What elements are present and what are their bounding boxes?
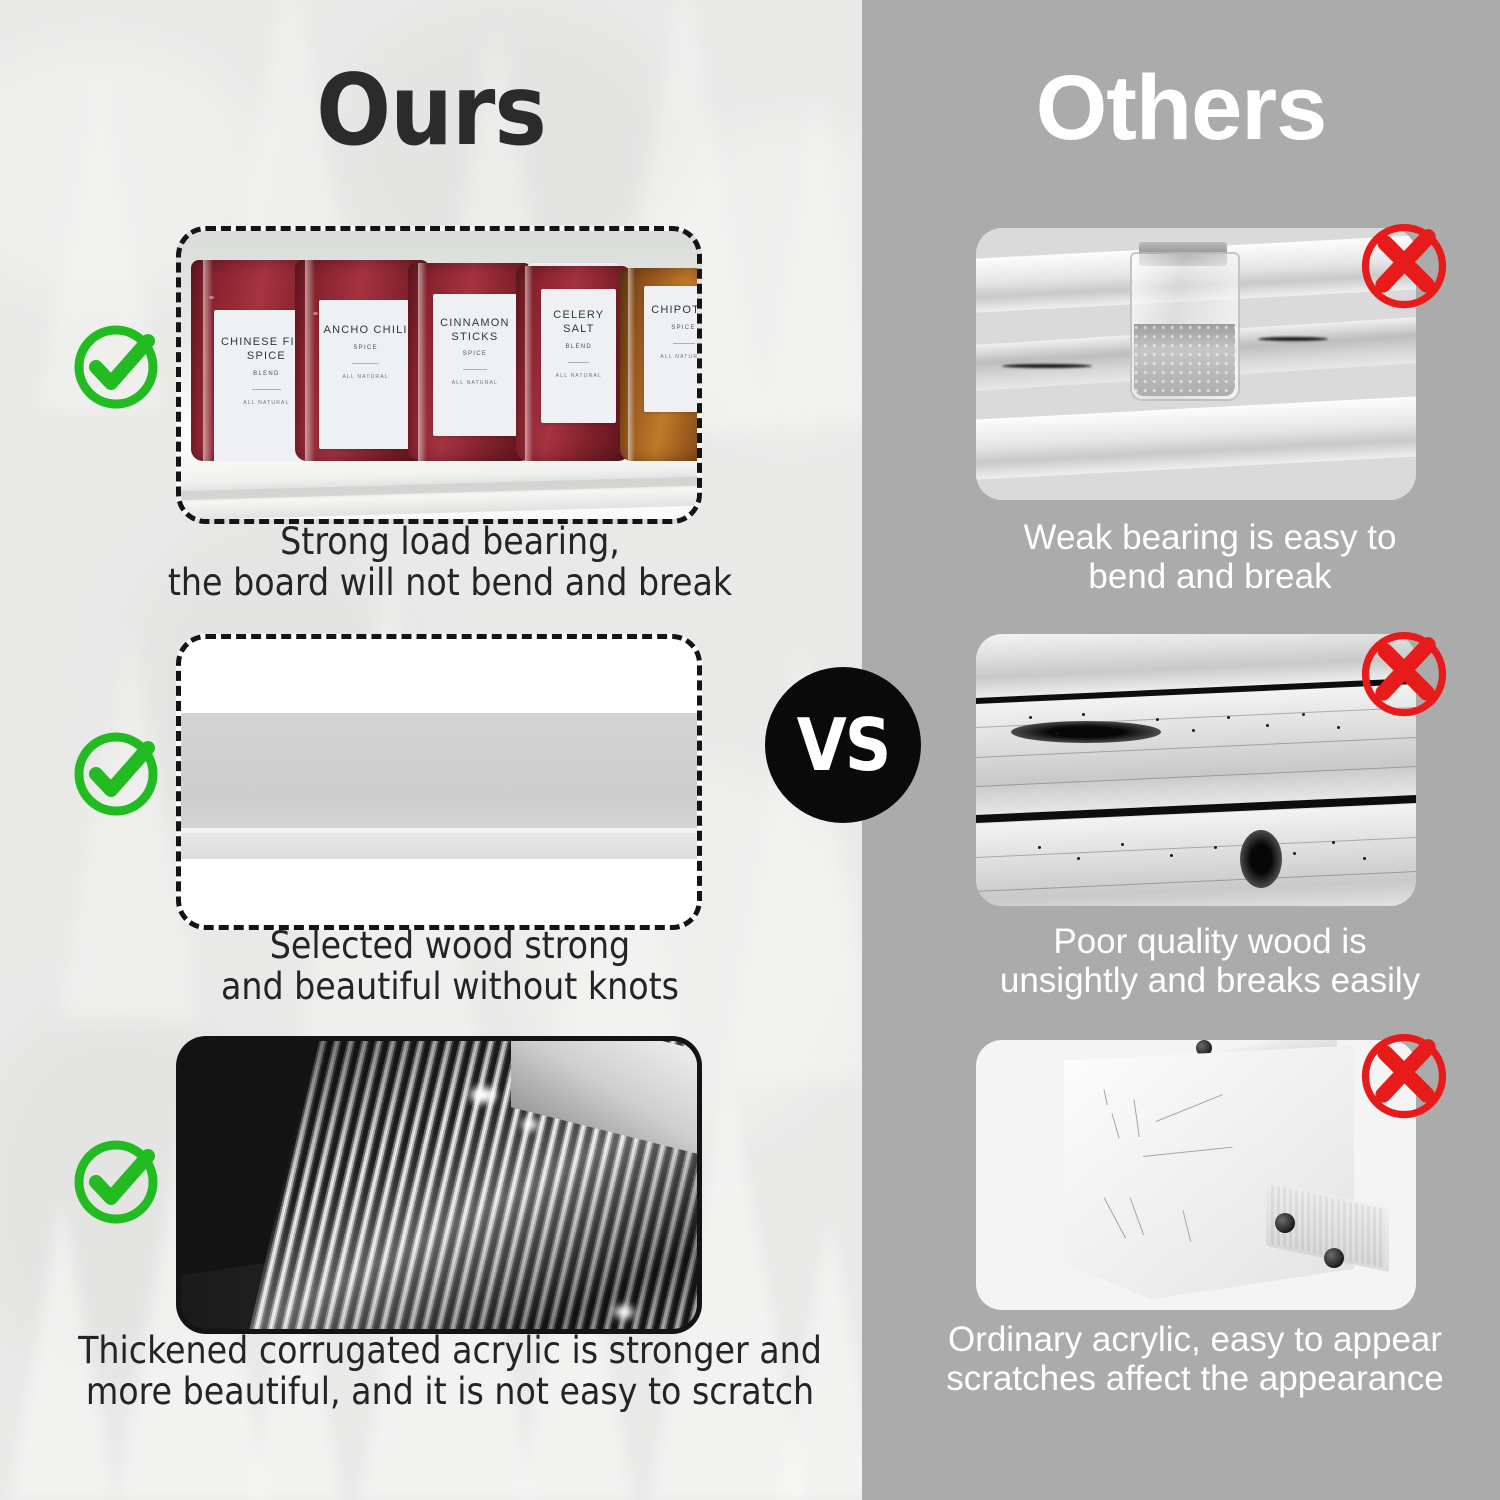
corrugated-acrylic-photo <box>176 1036 702 1334</box>
comparison-infographic: Ours Others VS CHINESE FIVE SPICE BLEND … <box>0 0 1500 1500</box>
ours-caption-2-line2: and beautiful without knots <box>130 966 770 1007</box>
ours-caption-2: Selected wood strong and beautiful witho… <box>130 925 770 1008</box>
jar-label-type: SPICE <box>463 351 488 357</box>
jar-label: CHIPOTLE SPICE ALL NATURAL <box>644 286 702 413</box>
others-caption-2-line1: Poor quality wood is <box>940 922 1480 961</box>
spice-jars-on-shelf-photo: CHINESE FIVE SPICE BLEND ALL NATURAL ANC… <box>176 226 702 524</box>
ours-caption-3: Thickened corrugated acrylic is stronger… <box>60 1330 840 1413</box>
others-caption-2-line2: unsightly and breaks easily <box>940 961 1480 1000</box>
cross-circle-icon-1 <box>1352 212 1456 316</box>
ours-caption-3-line2: more beautiful, and it is not easy to sc… <box>60 1371 840 1412</box>
others-caption-1: Weak bearing is easy to bend and break <box>940 518 1480 596</box>
ours-caption-1-line1: Strong load bearing, <box>130 521 770 562</box>
spice-jar: CHIPOTLE SPICE ALL NATURAL <box>620 268 702 461</box>
knotty-cracked-wood-photo <box>976 634 1416 906</box>
others-caption-1-line2: bend and break <box>940 557 1480 596</box>
jar-on-bending-shelf-photo <box>976 228 1416 500</box>
cross-circle-icon-2 <box>1352 620 1456 724</box>
others-caption-1-line1: Weak bearing is easy to <box>940 518 1480 557</box>
vs-badge: VS <box>765 667 921 823</box>
spice-jar: CINNAMON STICKS SPICE ALL NATURAL <box>408 263 532 462</box>
jar-label-note: ALL NATURAL <box>556 373 602 379</box>
jar-label-note: ALL NATURAL <box>660 354 702 360</box>
cross-circle-icon-3 <box>1352 1022 1456 1126</box>
jar-label-name: CHIPOTLE <box>651 304 702 318</box>
others-caption-3: Ordinary acrylic, easy to appear scratch… <box>900 1320 1490 1398</box>
page-title-others: Others <box>862 62 1500 154</box>
jar-label-name: CINNAMON STICKS <box>433 317 517 345</box>
jar-label-type: BLEND <box>253 371 280 377</box>
check-circle-icon-1 <box>66 315 166 415</box>
jar-label: ANCHO CHILI SPICE ALL NATURAL <box>319 300 413 449</box>
jar-label-type: SPICE <box>353 345 378 351</box>
others-caption-2: Poor quality wood is unsightly and break… <box>940 922 1480 1000</box>
jar-label-name: CELERY SALT <box>541 309 616 337</box>
check-circle-icon-2 <box>66 722 166 822</box>
vs-badge-label: VS <box>797 709 890 781</box>
jar-label-note: ALL NATURAL <box>452 380 498 386</box>
jar-label-type: SPICE <box>671 325 696 331</box>
jar-label: CELERY SALT BLEND ALL NATURAL <box>541 289 616 423</box>
jar-label: CINNAMON STICKS SPICE ALL NATURAL <box>433 294 517 436</box>
jar-label-type: BLEND <box>566 344 593 350</box>
ours-caption-2-line1: Selected wood strong <box>130 925 770 966</box>
others-caption-3-line2: scratches affect the appearance <box>900 1359 1490 1398</box>
page-title-ours: Ours <box>0 62 862 160</box>
check-circle-icon-3 <box>66 1130 166 1230</box>
jar-label-note: ALL NATURAL <box>243 400 289 406</box>
scratched-acrylic-photo <box>976 1040 1416 1310</box>
ours-caption-1-line2: the board will not bend and break <box>130 562 770 603</box>
spice-jar: CELERY SALT BLEND ALL NATURAL <box>516 266 630 462</box>
jar-label-name: ANCHO CHILI <box>324 324 408 338</box>
jar-label-note: ALL NATURAL <box>342 374 388 380</box>
ours-caption-1: Strong load bearing, the board will not … <box>130 521 770 604</box>
ours-caption-3-line1: Thickened corrugated acrylic is stronger… <box>60 1330 840 1371</box>
others-caption-3-line1: Ordinary acrylic, easy to appear <box>900 1320 1490 1359</box>
clean-wood-board-photo <box>176 634 702 930</box>
